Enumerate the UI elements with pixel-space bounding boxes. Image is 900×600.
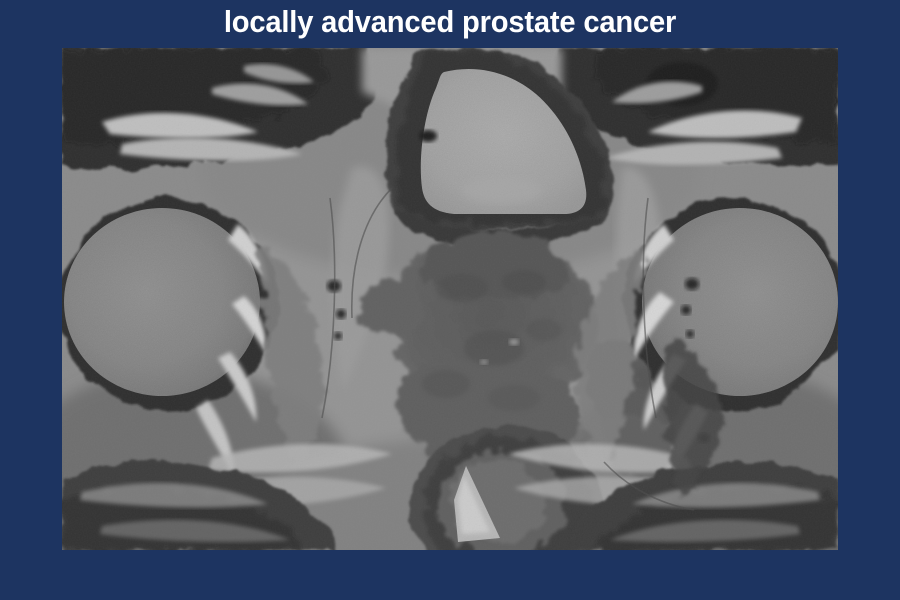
mri-content	[62, 48, 838, 550]
page-title: locally advanced prostate cancer	[27, 2, 873, 44]
mri-canvas	[62, 48, 838, 550]
slide-canvas: locally advanced prostate cancer	[0, 0, 900, 600]
image-noise-overlay	[62, 48, 838, 550]
axial-pelvic-mri-image	[62, 48, 838, 550]
